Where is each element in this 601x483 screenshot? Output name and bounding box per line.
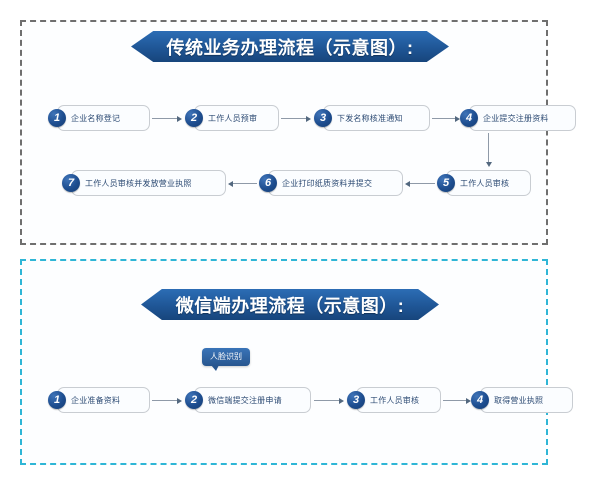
arrow-head-right-icon (177, 116, 182, 122)
node-number-badge: 2 (185, 391, 203, 409)
arrow-head-right-icon (339, 398, 344, 404)
wechat-flow-title: 微信端办理流程（示意图）: (176, 292, 405, 318)
node-label: 企业打印纸质资料并提交 (282, 178, 372, 189)
node-number-badge: 1 (48, 391, 66, 409)
arrow-shaft (152, 118, 177, 119)
arrow-shaft (281, 118, 306, 119)
traditional-node-6[interactable]: 6 企业打印纸质资料并提交 (259, 170, 403, 196)
arrow-head-right-icon (177, 398, 182, 404)
arrow-shaft (410, 183, 435, 184)
node-number-badge: 5 (437, 174, 455, 192)
node-label: 工作人员预审 (208, 113, 257, 124)
node-number-badge: 4 (460, 109, 478, 127)
node-number-badge: 3 (347, 391, 365, 409)
traditional-node-4[interactable]: 4 企业提交注册资料 (460, 105, 576, 131)
traditional-node-7[interactable]: 7 工作人员审核并发放营业执照 (62, 170, 226, 196)
arrow-head-down-icon (486, 162, 492, 167)
node-label: 取得营业执照 (494, 395, 543, 406)
arrow-node3-to-node4 (432, 114, 460, 123)
wechat-node-1[interactable]: 1 企业准备资料 (48, 387, 150, 413)
node-label: 工作人员审核 (370, 395, 419, 406)
arrow-head-right-icon (306, 116, 311, 122)
node-label: 微信端提交注册申请 (208, 395, 282, 406)
arrow-node1-to-node2 (152, 114, 182, 123)
arrow-node5-to-node6 (405, 179, 435, 188)
arrow-shaft (432, 118, 455, 119)
traditional-flow-title-banner: 传统业务办理流程（示意图）: (131, 31, 449, 62)
wechat-node-3[interactable]: 3 工作人员审核 (347, 387, 441, 413)
traditional-node-5[interactable]: 5 工作人员审核 (437, 170, 531, 196)
traditional-node-2[interactable]: 2 工作人员预审 (185, 105, 279, 131)
node-number-badge: 3 (314, 109, 332, 127)
arrow-wechat-node3-to-node4 (443, 396, 471, 405)
node-number-badge: 4 (471, 391, 489, 409)
traditional-flow-title: 传统业务办理流程（示意图）: (167, 34, 414, 60)
face-recognition-label: 人脸识别 (210, 352, 242, 361)
face-recognition-callout: 人脸识别 (202, 348, 250, 366)
node-label: 下发名称核准通知 (337, 113, 403, 124)
node-label: 企业提交注册资料 (483, 113, 549, 124)
arrow-shaft (488, 133, 489, 162)
traditional-node-3[interactable]: 3 下发名称核准通知 (314, 105, 430, 131)
node-number-badge: 2 (185, 109, 203, 127)
traditional-node-1[interactable]: 1 企业名称登记 (48, 105, 150, 131)
node-label: 工作人员审核 (460, 178, 509, 189)
arrow-node4-to-node5 (484, 133, 493, 167)
node-label: 企业准备资料 (71, 395, 120, 406)
node-number-badge: 7 (62, 174, 80, 192)
node-label: 工作人员审核并发放营业执照 (85, 178, 192, 189)
node-number-badge: 6 (259, 174, 277, 192)
arrow-node2-to-node3 (281, 114, 311, 123)
arrow-wechat-node1-to-node2 (152, 396, 182, 405)
node-number-badge: 1 (48, 109, 66, 127)
arrow-shaft (233, 183, 257, 184)
arrow-node6-to-node7 (228, 179, 257, 188)
arrow-shaft (152, 400, 177, 401)
node-label: 企业名称登记 (71, 113, 120, 124)
wechat-node-2[interactable]: 2 微信端提交注册申请 (185, 387, 311, 413)
wechat-flow-title-banner: 微信端办理流程（示意图）: (141, 289, 439, 320)
arrow-shaft (314, 400, 339, 401)
arrow-shaft (443, 400, 466, 401)
wechat-node-4[interactable]: 4 取得营业执照 (471, 387, 573, 413)
arrow-wechat-node2-to-node3 (314, 396, 344, 405)
